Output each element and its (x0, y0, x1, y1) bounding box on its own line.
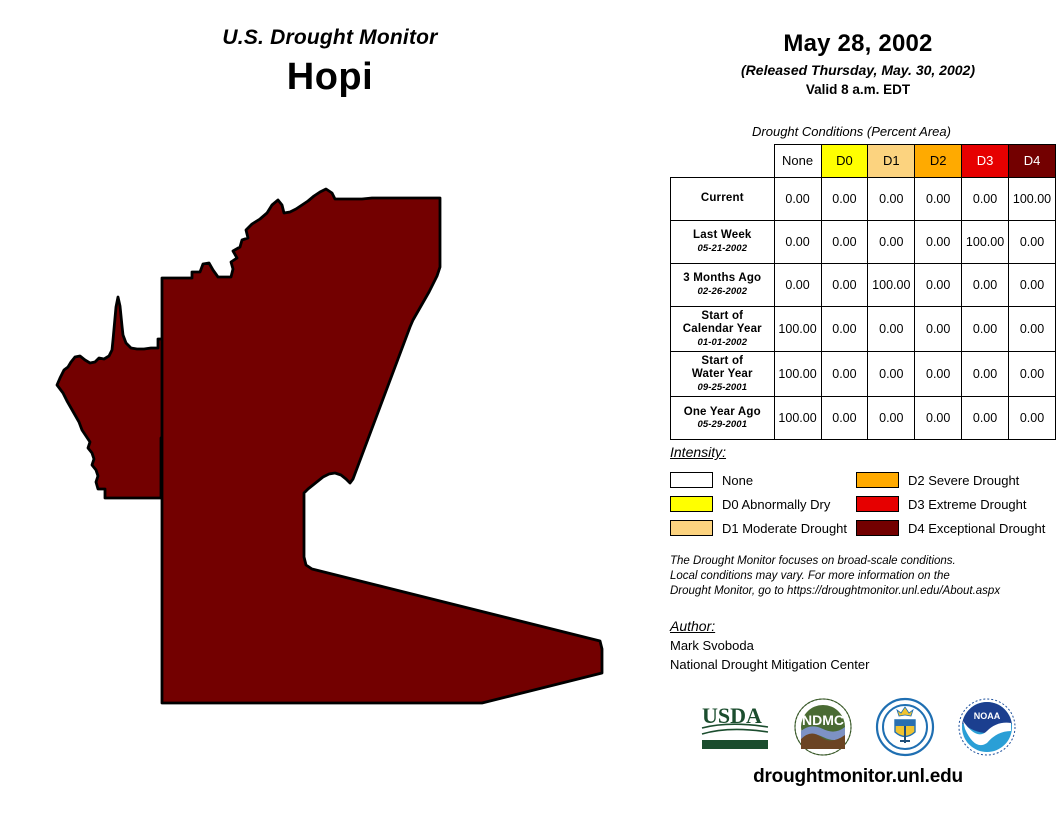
cell-d4: 0.00 (1009, 351, 1056, 396)
table-row: Last Week05-21-20020.000.000.000.00100.0… (671, 220, 1056, 263)
cell-d0: 0.00 (821, 263, 868, 306)
date-block: May 28, 2002 (Released Thursday, May. 30… (660, 30, 1056, 97)
cell-d1: 100.00 (868, 263, 915, 306)
page-title: U.S. Drought Monitor (0, 26, 660, 50)
cell-d4: 100.00 (1009, 177, 1056, 220)
author-heading: Author: (670, 618, 715, 634)
cell-d4: 0.00 (1009, 306, 1056, 351)
table-row: One Year Ago05-29-2001100.000.000.000.00… (671, 397, 1056, 440)
cell-d2: 0.00 (915, 220, 962, 263)
row-label-text: 3 Months Ago (675, 272, 770, 286)
cell-d2: 0.00 (915, 351, 962, 396)
legend-item-d0: D0 Abnormally Dry (670, 496, 856, 512)
row-label-text: Current (675, 192, 770, 206)
cell-d0: 0.00 (821, 177, 868, 220)
row-label-date: 09-25-2001 (675, 382, 770, 393)
legend-item-d2: D2 Severe Drought (856, 472, 1056, 488)
usda-logo[interactable]: USDA (699, 701, 771, 753)
issue-date: May 28, 2002 (660, 30, 1056, 58)
cell-d1: 0.00 (868, 177, 915, 220)
row-label: Start ofCalendar Year01-01-2002 (671, 306, 775, 351)
column-header-d3: D3 (962, 145, 1009, 178)
intensity-heading: Intensity: (670, 444, 726, 460)
column-header-none: None (774, 145, 821, 178)
table-caption: Drought Conditions (Percent Area) (660, 124, 1043, 139)
row-label: Current (671, 177, 775, 220)
logo-row: USDA NDMC (660, 694, 1056, 760)
table-corner-cell (671, 145, 775, 178)
row-label: Last Week05-21-2002 (671, 220, 775, 263)
legend-item-d4: D4 Exceptional Drought (856, 520, 1056, 536)
legend-swatch-d2 (856, 472, 899, 488)
cell-none: 100.00 (774, 397, 821, 440)
cell-d1: 0.00 (868, 351, 915, 396)
table-row: Start ofWater Year09-25-2001100.000.000.… (671, 351, 1056, 396)
usdc-seal[interactable] (875, 697, 935, 757)
cell-d3: 0.00 (962, 177, 1009, 220)
ndmc-logo[interactable]: NDMC (793, 697, 853, 757)
cell-d0: 0.00 (821, 351, 868, 396)
row-label-date: 02-26-2002 (675, 286, 770, 297)
column-header-d1: D1 (868, 145, 915, 178)
row-label-text: One Year Ago (675, 406, 770, 420)
legend-swatch-d4 (856, 520, 899, 536)
legend-label-none: None (722, 473, 753, 488)
cell-d2: 0.00 (915, 397, 962, 440)
table-row: Current0.000.000.000.000.00100.00 (671, 177, 1056, 220)
cell-none: 100.00 (774, 306, 821, 351)
cell-d3: 0.00 (962, 351, 1009, 396)
cell-d2: 0.00 (915, 177, 962, 220)
cell-d0: 0.00 (821, 397, 868, 440)
cell-none: 0.00 (774, 263, 821, 306)
cell-d4: 0.00 (1009, 263, 1056, 306)
author-affiliation: National Drought Mitigation Center (670, 655, 869, 674)
legend-label-d0: D0 Abnormally Dry (722, 497, 830, 512)
row-label-date: 01-01-2002 (675, 337, 770, 348)
disclaimer-line-2: Local conditions may vary. For more info… (670, 569, 1056, 584)
region-title: Hopi (0, 56, 660, 99)
cell-d3: 0.00 (962, 263, 1009, 306)
usda-field (702, 735, 768, 740)
author-info: Mark Svoboda National Drought Mitigation… (670, 636, 869, 674)
cell-d4: 0.00 (1009, 397, 1056, 440)
table-body: Current0.000.000.000.000.00100.00Last We… (671, 177, 1056, 440)
legend-item-d3: D3 Extreme Drought (856, 496, 1056, 512)
row-label-date: 05-21-2002 (675, 243, 770, 254)
cell-d1: 0.00 (868, 306, 915, 351)
column-header-d2: D2 (915, 145, 962, 178)
intensity-legend: None D2 Severe Drought D0 Abnormally Dry… (670, 468, 1056, 540)
cell-d0: 0.00 (821, 306, 868, 351)
row-label: Start ofWater Year09-25-2001 (671, 351, 775, 396)
row-label: One Year Ago05-29-2001 (671, 397, 775, 440)
cell-d0: 0.00 (821, 220, 868, 263)
cell-d1: 0.00 (868, 220, 915, 263)
cell-d3: 0.00 (962, 306, 1009, 351)
drought-conditions-table: None D0 D1 D2 D3 D4 Current0.000.000.000… (670, 144, 1056, 440)
table-row: 3 Months Ago02-26-20020.000.00100.000.00… (671, 263, 1056, 306)
disclaimer: The Drought Monitor focuses on broad-sca… (670, 554, 1056, 600)
site-url[interactable]: droughtmonitor.unl.edu (660, 766, 1056, 788)
table-header-row: None D0 D1 D2 D3 D4 (671, 145, 1056, 178)
row-label: 3 Months Ago02-26-2002 (671, 263, 775, 306)
noaa-logo-text: NOAA (974, 711, 1001, 721)
noaa-logo[interactable]: NOAA (957, 697, 1017, 757)
cell-d1: 0.00 (868, 397, 915, 440)
cell-none: 100.00 (774, 351, 821, 396)
row-label-text: Start ofWater Year (675, 355, 770, 382)
legend-label-d4: D4 Exceptional Drought (908, 521, 1045, 536)
legend-item-d1: D1 Moderate Drought (670, 520, 856, 536)
info-panel: May 28, 2002 (Released Thursday, May. 30… (660, 0, 1056, 816)
valid-time: Valid 8 a.m. EDT (660, 82, 1056, 97)
table-row: Start ofCalendar Year01-01-2002100.000.0… (671, 306, 1056, 351)
ndmc-logo-text: NDMC (802, 712, 844, 728)
legend-swatch-none (670, 472, 713, 488)
cell-d4: 0.00 (1009, 220, 1056, 263)
author-name: Mark Svoboda (670, 636, 869, 655)
legend-swatch-d1 (670, 520, 713, 536)
column-header-d4: D4 (1009, 145, 1056, 178)
title-block: U.S. Drought Monitor Hopi (0, 26, 660, 99)
legend-label-d3: D3 Extreme Drought (908, 497, 1027, 512)
disclaimer-line-3: Drought Monitor, go to https://droughtmo… (670, 584, 1056, 599)
table-head: None D0 D1 D2 D3 D4 (671, 145, 1056, 178)
row-label-date: 05-29-2001 (675, 419, 770, 430)
legend-label-d1: D1 Moderate Drought (722, 521, 847, 536)
usda-bar (702, 740, 768, 749)
released-date: (Released Thursday, May. 30, 2002) (660, 62, 1056, 78)
column-header-d0: D0 (821, 145, 868, 178)
cell-none: 0.00 (774, 177, 821, 220)
cell-d2: 0.00 (915, 263, 962, 306)
cell-none: 0.00 (774, 220, 821, 263)
legend-swatch-d0 (670, 496, 713, 512)
legend-item-none: None (670, 472, 856, 488)
seal-shield-chief (895, 720, 915, 726)
hopi-drought-map[interactable] (10, 185, 670, 745)
cell-d2: 0.00 (915, 306, 962, 351)
cell-d3: 0.00 (962, 397, 1009, 440)
legend-label-d2: D2 Severe Drought (908, 473, 1019, 488)
legend-swatch-d3 (856, 496, 899, 512)
cell-d3: 100.00 (962, 220, 1009, 263)
disclaimer-line-1: The Drought Monitor focuses on broad-sca… (670, 554, 1056, 569)
usda-swoosh-2 (702, 729, 768, 734)
row-label-text: Start ofCalendar Year (675, 310, 770, 337)
row-label-text: Last Week (675, 229, 770, 243)
